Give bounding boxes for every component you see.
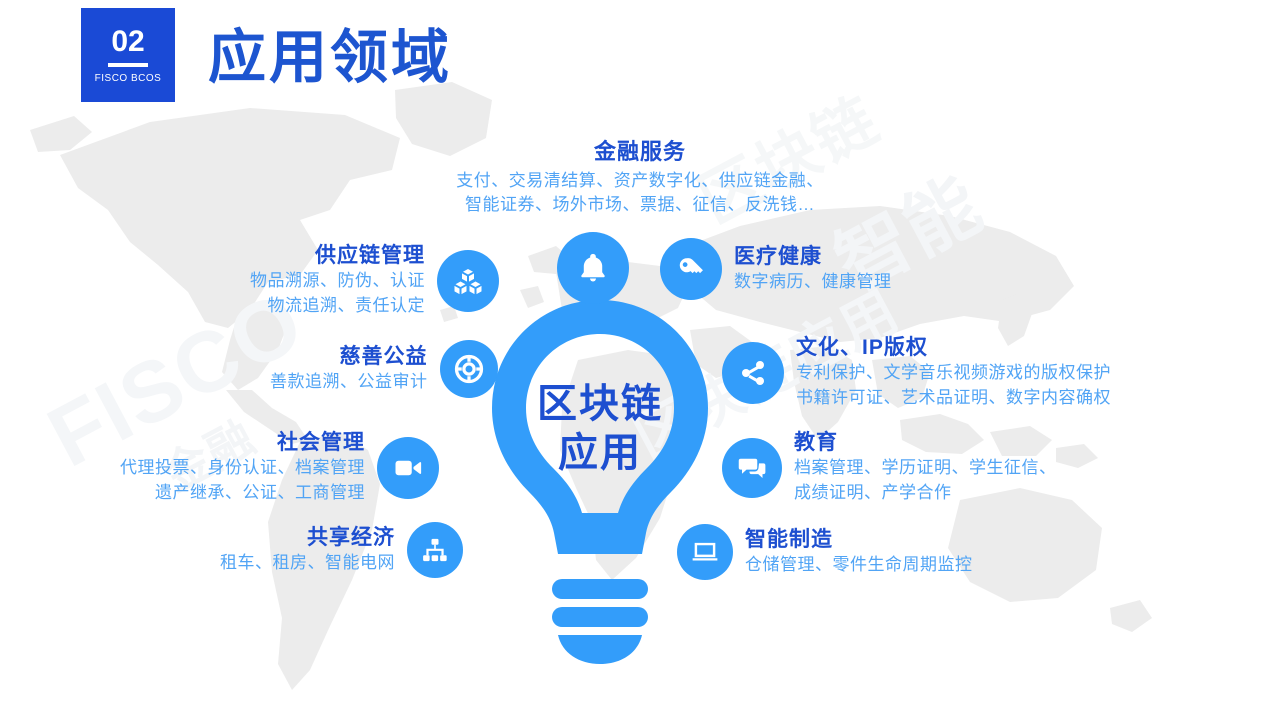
node-charity[interactable]: 慈善公益 善款追溯、公益审计: [270, 340, 498, 398]
page-title: 应用领域: [208, 23, 452, 93]
node-smart-manufacturing[interactable]: 智能制造 仓储管理、零件生命周期监控: [677, 524, 973, 580]
node-education-desc-1: 档案管理、学历证明、学生征信、: [794, 456, 1057, 481]
section-number: 02: [111, 27, 144, 57]
node-social-governance-desc-1: 代理投票、身份认证、档案管理: [120, 456, 365, 481]
node-charity-text: 慈善公益 善款追溯、公益审计: [270, 344, 428, 395]
node-supply-chain-desc-1: 物品溯源、防伪、认证: [250, 269, 425, 294]
key-icon[interactable]: [660, 238, 722, 300]
node-sharing-economy-desc-1: 租车、租房、智能电网: [220, 551, 395, 576]
node-education-title: 教育: [794, 430, 838, 456]
node-finance-text: 金融服务 支付、交易清结算、资产数字化、供应链金融、 智能证券、场外市场、票据、…: [456, 138, 824, 218]
node-charity-desc-1: 善款追溯、公益审计: [270, 370, 428, 395]
badge-divider: [108, 63, 148, 67]
lightbulb-icon: [470, 296, 730, 666]
node-finance-title: 金融服务: [594, 138, 686, 166]
node-healthcare-desc-1: 数字病历、健康管理: [734, 270, 892, 295]
node-finance-icon-wrap[interactable]: [557, 232, 629, 304]
node-healthcare-title: 医疗健康: [734, 244, 822, 270]
bell-icon[interactable]: [557, 232, 629, 304]
node-sharing-economy[interactable]: 共享经济 租车、租房、智能电网: [220, 522, 463, 578]
node-social-governance-title: 社会管理: [277, 430, 365, 456]
slide-canvas: FISCO 金融 智能 区块链应用 区块链 02 FISCO BCOS 应用领域…: [0, 0, 1280, 720]
node-healthcare-text: 医疗健康 数字病历、健康管理: [734, 244, 892, 295]
video-camera-icon[interactable]: [377, 437, 439, 499]
node-finance-desc-1: 支付、交易清结算、资产数字化、供应链金融、: [456, 169, 824, 194]
node-finance[interactable]: 金融服务 支付、交易清结算、资产数字化、供应链金融、 智能证券、场外市场、票据、…: [380, 138, 900, 218]
node-culture-ip[interactable]: 文化、IP版权 专利保护、文学音乐视频游戏的版权保护 书籍许可证、艺术品证明、数…: [722, 335, 1111, 411]
node-finance-desc-2: 智能证券、场外市场、票据、征信、反洗钱…: [465, 193, 815, 218]
node-culture-ip-title: 文化、IP版权: [796, 335, 928, 361]
chat-bubbles-icon[interactable]: [722, 438, 782, 498]
node-education-text: 教育 档案管理、学历证明、学生征信、 成绩证明、产学合作: [794, 430, 1057, 506]
node-social-governance-text: 社会管理 代理投票、身份认证、档案管理 遗产继承、公证、工商管理: [120, 430, 365, 506]
sitemap-icon[interactable]: [407, 522, 463, 578]
laptop-icon[interactable]: [677, 524, 733, 580]
node-healthcare[interactable]: 医疗健康 数字病历、健康管理: [660, 238, 892, 300]
node-sharing-economy-text: 共享经济 租车、租房、智能电网: [220, 525, 395, 576]
share-icon[interactable]: [722, 342, 784, 404]
node-smart-manufacturing-title: 智能制造: [745, 527, 833, 553]
center-label-line1: 区块链: [470, 380, 730, 429]
node-social-governance[interactable]: 社会管理 代理投票、身份认证、档案管理 遗产继承、公证、工商管理: [120, 430, 439, 506]
node-education-desc-2: 成绩证明、产学合作: [794, 481, 952, 506]
node-supply-chain-title: 供应链管理: [315, 243, 425, 269]
boxes-icon[interactable]: [437, 250, 499, 312]
slide-header: 02 FISCO BCOS 应用领域: [0, 0, 1280, 110]
node-sharing-economy-title: 共享经济: [307, 525, 395, 551]
node-education[interactable]: 教育 档案管理、学历证明、学生征信、 成绩证明、产学合作: [722, 430, 1057, 506]
node-culture-ip-desc-1: 专利保护、文学音乐视频游戏的版权保护: [796, 361, 1111, 386]
center-label: 区块链 应用: [470, 380, 730, 478]
node-supply-chain[interactable]: 供应链管理 物品溯源、防伪、认证 物流追溯、责任认定: [250, 243, 499, 319]
lifebuoy-icon[interactable]: [440, 340, 498, 398]
badge-subtitle: FISCO BCOS: [95, 74, 162, 84]
node-smart-manufacturing-text: 智能制造 仓储管理、零件生命周期监控: [745, 527, 973, 578]
node-social-governance-desc-2: 遗产继承、公证、工商管理: [155, 481, 365, 506]
node-supply-chain-text: 供应链管理 物品溯源、防伪、认证 物流追溯、责任认定: [250, 243, 425, 319]
node-smart-manufacturing-desc-1: 仓储管理、零件生命周期监控: [745, 553, 973, 578]
node-culture-ip-text: 文化、IP版权 专利保护、文学音乐视频游戏的版权保护 书籍许可证、艺术品证明、数…: [796, 335, 1111, 411]
node-supply-chain-desc-2: 物流追溯、责任认定: [268, 294, 426, 319]
section-badge: 02 FISCO BCOS: [81, 8, 175, 102]
center-label-line2: 应用: [470, 429, 730, 478]
node-charity-title: 慈善公益: [340, 344, 428, 370]
node-culture-ip-desc-2: 书籍许可证、艺术品证明、数字内容确权: [796, 386, 1111, 411]
